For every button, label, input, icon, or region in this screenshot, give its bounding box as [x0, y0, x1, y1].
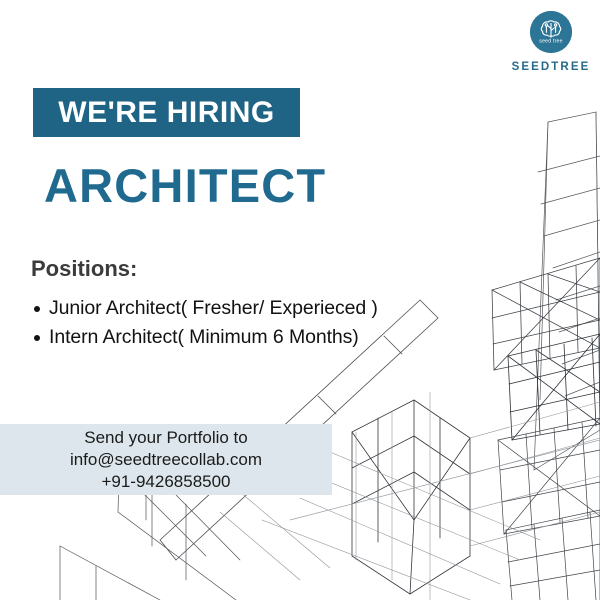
- hiring-banner: WE'RE HIRING: [33, 88, 300, 137]
- list-item: Junior Architect( Fresher/ Experieced ): [31, 297, 501, 320]
- hiring-banner-label: WE'RE HIRING: [58, 96, 274, 130]
- list-item: Intern Architect( Minimum 6 Months): [31, 326, 501, 349]
- hiring-poster: seed tree SEEDTREE WE'RE HIRING ARCHITEC…: [0, 0, 600, 600]
- positions-heading: Positions:: [31, 256, 137, 282]
- contact-email[interactable]: info@seedtreecollab.com: [70, 449, 262, 471]
- seedtree-logo-icon: seed tree: [530, 11, 572, 53]
- contact-phone[interactable]: +91-9426858500: [101, 471, 230, 493]
- position-label: Intern Architect( Minimum 6 Months): [49, 326, 359, 348]
- brand-wordmark: SEEDTREE: [497, 61, 600, 73]
- role-title: ARCHITECT: [44, 158, 326, 213]
- contact-instruction: Send your Portfolio to: [84, 427, 247, 449]
- bullet-icon: [34, 335, 40, 341]
- bullet-icon: [34, 306, 40, 312]
- brand-block: seed tree SEEDTREE: [497, 8, 600, 73]
- svg-text:seed tree: seed tree: [539, 39, 562, 45]
- position-label: Junior Architect( Fresher/ Experieced ): [49, 297, 378, 319]
- contact-box: Send your Portfolio to info@seedtreecoll…: [0, 424, 332, 495]
- positions-list: Junior Architect( Fresher/ Experieced ) …: [31, 297, 501, 355]
